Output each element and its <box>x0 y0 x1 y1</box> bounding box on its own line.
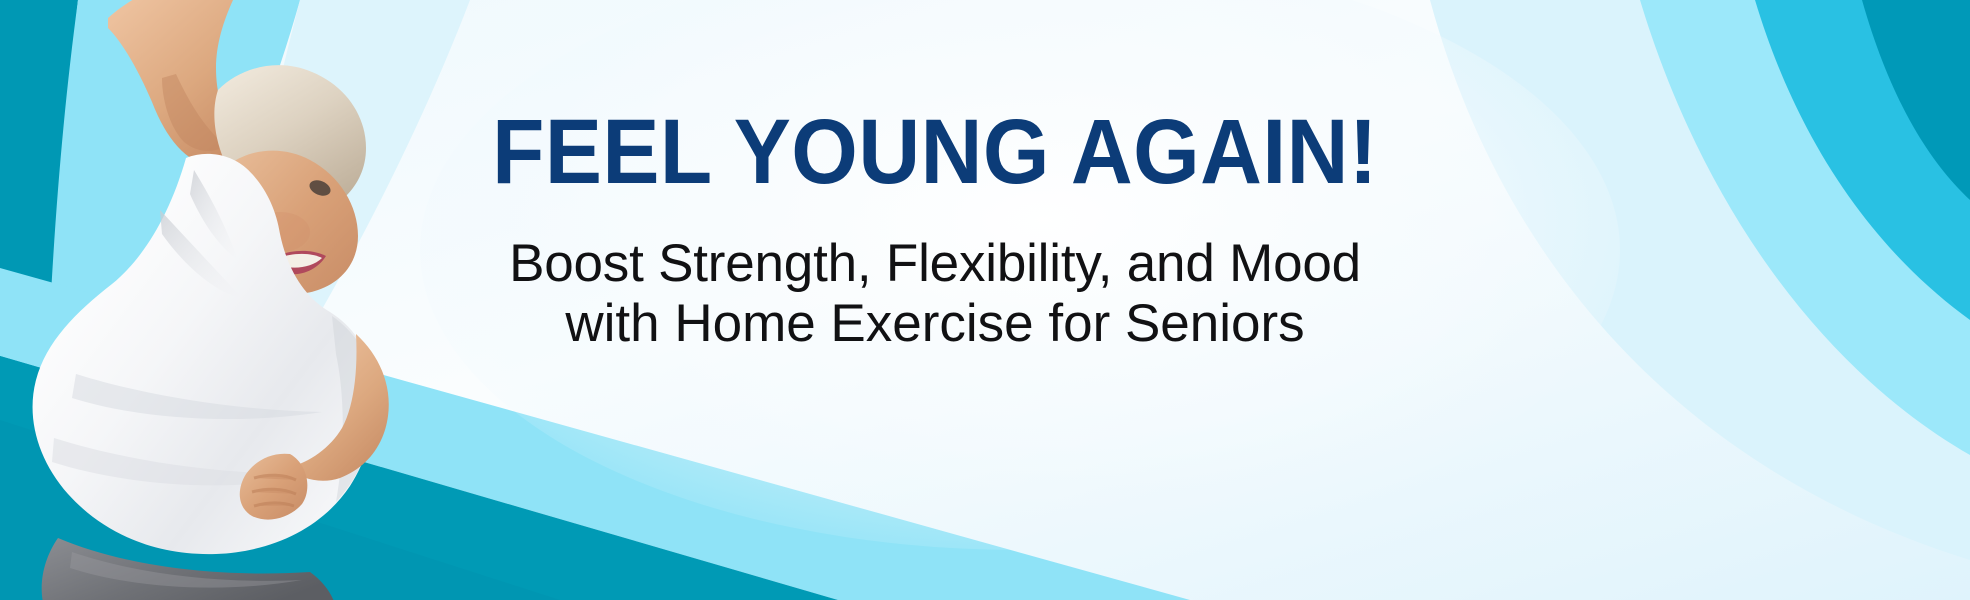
banner-subtitle: Boost Strength, Flexibility, and Mood wi… <box>380 234 1490 354</box>
page-title: FEEL YOUNG AGAIN! <box>419 108 1451 196</box>
subtitle-line-2: with Home Exercise for Seniors <box>380 294 1490 354</box>
promotional-banner: FEEL YOUNG AGAIN! Boost Strength, Flexib… <box>0 0 1970 600</box>
banner-text-block: FEEL YOUNG AGAIN! Boost Strength, Flexib… <box>380 108 1490 354</box>
subtitle-line-1: Boost Strength, Flexibility, and Mood <box>380 234 1490 294</box>
